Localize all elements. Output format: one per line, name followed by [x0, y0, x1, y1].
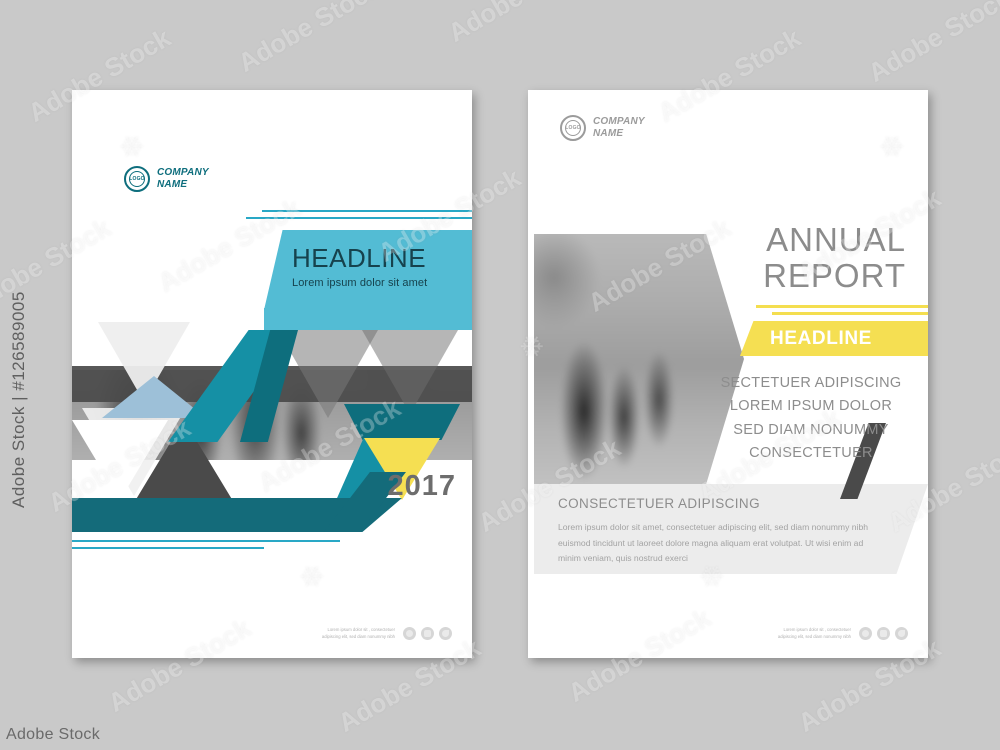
logo-icon: LOGO — [560, 115, 586, 141]
watermark-text: Adobe Stock — [443, 0, 596, 49]
footer-text-left: Lorem ipsum dolor sit , consectetuer adi… — [285, 627, 395, 640]
company-name-line2: NAME — [157, 179, 187, 190]
company-name-left: COMPANY NAME — [157, 167, 209, 191]
center-line-3: SED DIAM NONUMMY — [704, 419, 918, 442]
social-circle-icon[interactable] — [403, 627, 416, 640]
social-square-icon[interactable] — [877, 627, 890, 640]
panel-body-text: Lorem ipsum dolor sit amet, consectetuer… — [558, 520, 888, 567]
logo-lockup-left: LOGO COMPANY NAME — [124, 166, 209, 192]
headline-band-right: HEADLINE — [740, 321, 928, 356]
report-title-line1: ANNUAL — [766, 221, 906, 258]
yellow-rule-2 — [772, 312, 928, 315]
footer-text-right: Lorem ipsum dolor sit , consectetuer adi… — [741, 627, 851, 640]
center-line-2: LOREM IPSUM DOLOR — [704, 395, 918, 418]
footer-line2-left: adipiscing elit, sed diam nonummy nibh — [322, 634, 395, 639]
yellow-rule-1 — [756, 305, 928, 308]
watermark-text: Adobe Stock — [863, 0, 1000, 89]
social-icons-right[interactable] — [859, 627, 908, 640]
logo-lockup-right: LOGO COMPANY NAME — [560, 115, 645, 141]
company-name-line1: COMPANY — [593, 116, 645, 127]
social-circle-icon[interactable] — [859, 627, 872, 640]
company-name-line1: COMPANY — [157, 167, 209, 178]
social-icons-left[interactable] — [403, 627, 452, 640]
social-square-icon[interactable] — [421, 627, 434, 640]
company-name-right: COMPANY NAME — [593, 116, 645, 140]
cyan-rule-top-1 — [262, 210, 472, 212]
subheadline-text-left: Lorem ipsum dolor sit amet — [292, 277, 472, 289]
social-page-icon[interactable] — [895, 627, 908, 640]
footer-line1-left: Lorem ipsum dolor sit , consectetuer — [328, 627, 396, 632]
headline-text-left: HEADLINE — [292, 243, 472, 274]
stock-brand-label: Adobe Stock — [6, 726, 100, 744]
footer-left: Lorem ipsum dolor sit , consectetuer adi… — [285, 627, 452, 640]
center-line-4: CONSECTETUER — [704, 442, 918, 465]
social-page-icon[interactable] — [439, 627, 452, 640]
logo-mark-text: LOGO — [129, 176, 145, 182]
cyan-rule-bottom-1 — [72, 540, 340, 542]
panel-title: CONSECTETUER ADIPISCING — [558, 496, 760, 511]
triangle-teal-dark-right — [344, 404, 460, 440]
stock-id-label: Adobe Stock | #126589005 — [4, 238, 34, 508]
cyan-top-band — [264, 308, 472, 330]
brochure-cover-right: LOGO COMPANY NAME ANNUAL REPORT HEADLINE… — [528, 90, 928, 658]
footer-line1-right: Lorem ipsum dolor sit , consectetuer — [784, 627, 852, 632]
center-text-block: SECTETUER ADIPISCING LOREM IPSUM DOLOR S… — [704, 372, 918, 466]
cyan-rule-top-2 — [246, 217, 472, 219]
year-label: 2017 — [316, 470, 456, 503]
logo-icon: LOGO — [124, 166, 150, 192]
headline-text-right: HEADLINE — [770, 328, 872, 350]
center-line-1: SECTETUER ADIPISCING — [704, 372, 918, 395]
watermark-text: Adobe Stock — [233, 0, 386, 79]
footer-right: Lorem ipsum dolor sit , consectetuer adi… — [741, 627, 908, 640]
footer-line2-right: adipiscing elit, sed diam nonummy nibh — [778, 634, 851, 639]
headline-band-left: HEADLINE Lorem ipsum dolor sit amet — [264, 230, 472, 310]
brochure-cover-left: LOGO COMPANY NAME HEADLINE Lorem ipsum d… — [72, 90, 472, 658]
cyan-rule-bottom-2 — [72, 547, 264, 549]
logo-mark-text: LOGO — [565, 125, 581, 131]
company-name-line2: NAME — [593, 128, 623, 139]
report-title-line2: REPORT — [763, 257, 906, 294]
report-title: ANNUAL REPORT — [763, 222, 906, 293]
